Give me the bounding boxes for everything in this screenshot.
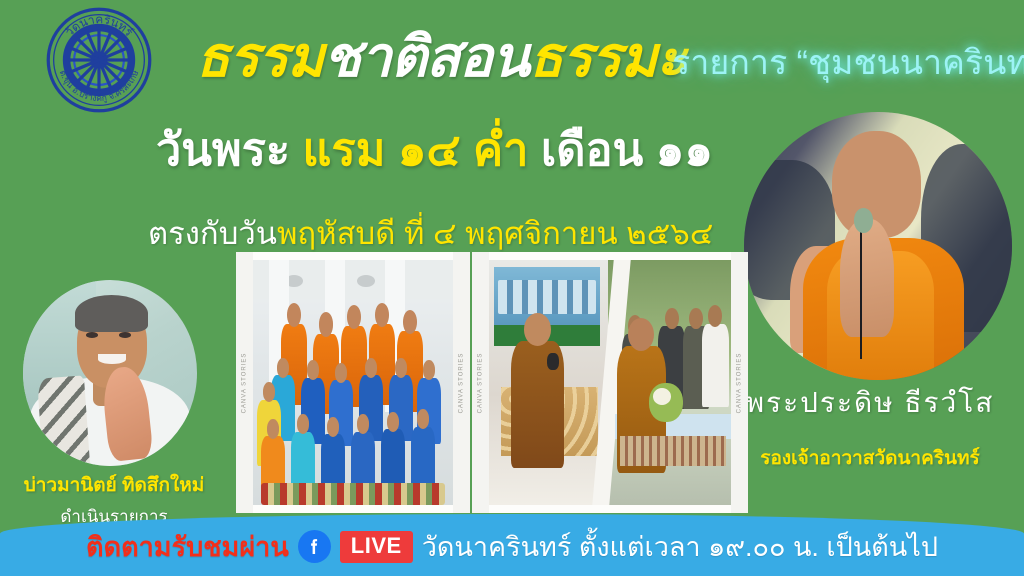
watch-info-text: วัดนาครินทร์ ตั้งแต่เวลา ๑๙.๐๐ น. เป็นต้… bbox=[422, 525, 938, 568]
film-strip-right: CANVA STORIES bbox=[731, 252, 748, 513]
film-strip-label: CANVA STORIES bbox=[242, 352, 248, 413]
holy-day-headline: วันพระ แรม ๑๔ ค่ำ เดือน ๑๑ bbox=[156, 122, 713, 178]
title-part-2: ชาติสอน bbox=[323, 25, 529, 88]
gregorian-date-line: ตรงกับวันพฤหัสบดี ที่ ๔ พฤศจิกายน ๒๕๖๔ bbox=[148, 214, 713, 254]
program-label: รายการ “ชุมชนนาครินทร์” bbox=[672, 41, 1024, 85]
film-strip-label: CANVA STORIES bbox=[737, 352, 743, 413]
headline-part-1: วันพระ bbox=[156, 124, 303, 175]
subline-part-2: พฤหัสบดี ที่ ๔ พฤศจิกายน ๒๕๖๔ bbox=[277, 216, 713, 251]
subline-part-1: ตรงกับวัน bbox=[148, 216, 277, 251]
monk-portrait bbox=[744, 112, 1012, 380]
group-photo-image bbox=[253, 260, 453, 505]
film-strip-label: CANVA STORIES bbox=[478, 352, 484, 413]
monk-photo-image bbox=[744, 112, 1012, 380]
film-strip-left: CANVA STORIES bbox=[472, 252, 489, 513]
event-photo-image bbox=[489, 260, 731, 505]
poster-canvas: วัดนาครินทร์ ต.ขุน อ.ปรางค์กู่ จ.ศรีสะเก… bbox=[0, 0, 1024, 576]
film-strip-label: CANVA STORIES bbox=[459, 352, 465, 413]
title-part-1: ธรรม bbox=[196, 25, 323, 88]
temple-logo: วัดนาครินทร์ ต.ขุน อ.ปรางค์กู่ จ.ศรีสะเก… bbox=[34, 6, 164, 114]
title-part-3: ธรรมะ bbox=[529, 25, 685, 88]
headline-part-2: แรม ๑๔ ค่ำ bbox=[303, 124, 529, 175]
film-strip-right: CANVA STORIES bbox=[453, 252, 470, 513]
page-title: ธรรมชาติสอนธรรมะ bbox=[196, 22, 686, 92]
monk-role: รองเจ้าอาวาสวัดนาครินทร์ bbox=[716, 443, 1024, 473]
live-badge: LIVE bbox=[340, 531, 413, 563]
monk-name: พระประดิษ ธีรวํโส bbox=[716, 381, 1024, 425]
facebook-icon[interactable] bbox=[298, 530, 331, 563]
follow-text: ติดตามรับชมผ่าน bbox=[86, 525, 289, 568]
host-name: บ่าวมานิตย์ ทิดสึกใหม่ bbox=[0, 470, 228, 500]
host-portrait bbox=[23, 280, 197, 466]
headline-part-3: เดือน ๑๑ bbox=[528, 124, 713, 175]
event-photo-frame: CANVA STORIES CANVA STORIES bbox=[472, 252, 748, 513]
footer-content: ติดตามรับชมผ่าน LIVE วัดนาครินทร์ ตั้งแต… bbox=[0, 525, 1024, 568]
host-photo-image bbox=[23, 280, 197, 466]
film-strip-left: CANVA STORIES bbox=[236, 252, 253, 513]
group-photo-frame: CANVA STORIES CANVA STORIES bbox=[236, 252, 470, 513]
dharma-wheel-icon: วัดนาครินทร์ ต.ขุน อ.ปรางค์กู่ จ.ศรีสะเก… bbox=[34, 6, 164, 114]
